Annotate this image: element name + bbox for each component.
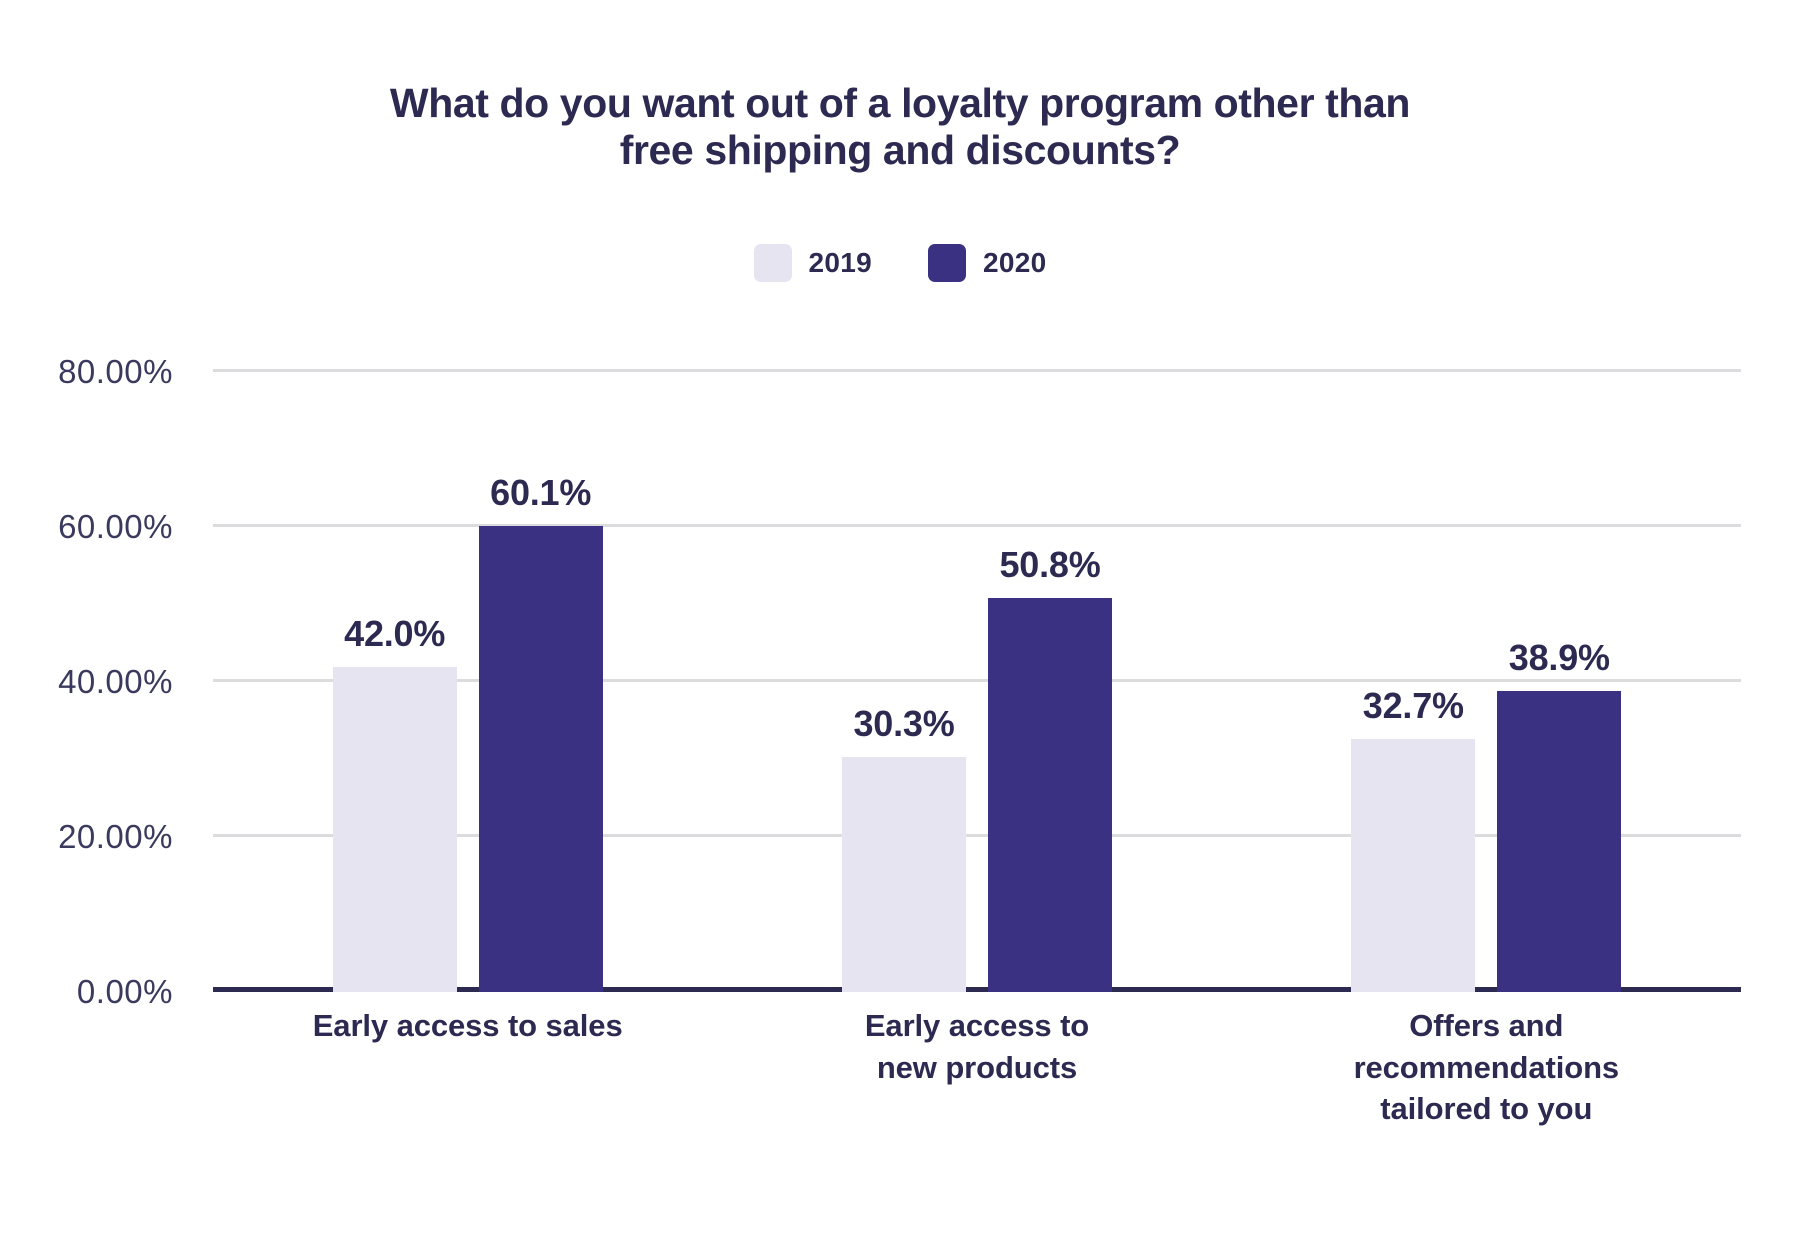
- bar-rect[interactable]: [333, 667, 457, 993]
- legend-swatch-icon-2019: [754, 244, 792, 282]
- bar-value-label: 30.3%: [853, 703, 954, 745]
- x-axis-category-labels: Early access to salesEarly access to new…: [213, 1005, 1741, 1130]
- category-label: Offers and recommendations tailored to y…: [1232, 1005, 1741, 1130]
- bar-group: 32.7%38.9%: [1232, 372, 1741, 992]
- bar-2020[interactable]: 38.9%: [1497, 372, 1621, 992]
- legend-label-2019: 2019: [809, 247, 873, 279]
- bar-value-label: 50.8%: [999, 544, 1100, 586]
- bar-2020[interactable]: 60.1%: [479, 372, 603, 992]
- bar-chart: What do you want out of a loyalty progra…: [0, 0, 1800, 1236]
- y-tick-label-20: 20.00%: [58, 818, 173, 856]
- y-tick-label-40: 40.00%: [58, 663, 173, 701]
- chart-title: What do you want out of a loyalty progra…: [0, 80, 1800, 174]
- bar-groups: 42.0%60.1%30.3%50.8%32.7%38.9%: [213, 372, 1741, 992]
- legend-item-2019[interactable]: 2019: [754, 244, 873, 282]
- bar-2019[interactable]: 32.7%: [1351, 372, 1475, 992]
- bar-rect[interactable]: [1497, 691, 1621, 992]
- bar-rect[interactable]: [842, 757, 966, 992]
- bar-rect[interactable]: [988, 598, 1112, 992]
- category-label: Early access to new products: [722, 1005, 1231, 1130]
- category-label: Early access to sales: [213, 1005, 722, 1130]
- legend-swatch-icon-2020: [928, 244, 966, 282]
- bar-rect[interactable]: [479, 526, 603, 992]
- bar-value-label: 38.9%: [1509, 637, 1610, 679]
- bar-rect[interactable]: [1351, 739, 1475, 992]
- bar-2019[interactable]: 42.0%: [333, 372, 457, 992]
- legend-item-2020[interactable]: 2020: [928, 244, 1047, 282]
- bar-group: 42.0%60.1%: [213, 372, 722, 992]
- bar-value-label: 32.7%: [1363, 685, 1464, 727]
- y-tick-label-60: 60.00%: [58, 508, 173, 546]
- y-axis-tick-labels: 0.00%20.00%40.00%60.00%80.00%: [0, 372, 195, 992]
- y-tick-label-80: 80.00%: [58, 353, 173, 391]
- bar-2019[interactable]: 30.3%: [842, 372, 966, 992]
- plot-area: 42.0%60.1%30.3%50.8%32.7%38.9%: [213, 372, 1741, 992]
- bar-group: 30.3%50.8%: [722, 372, 1231, 992]
- y-tick-label-0: 0.00%: [77, 973, 173, 1011]
- bar-value-label: 60.1%: [490, 472, 591, 514]
- bar-2020[interactable]: 50.8%: [988, 372, 1112, 992]
- bar-value-label: 42.0%: [344, 613, 445, 655]
- chart-legend: 2019 2020: [0, 244, 1800, 282]
- legend-label-2020: 2020: [983, 247, 1047, 279]
